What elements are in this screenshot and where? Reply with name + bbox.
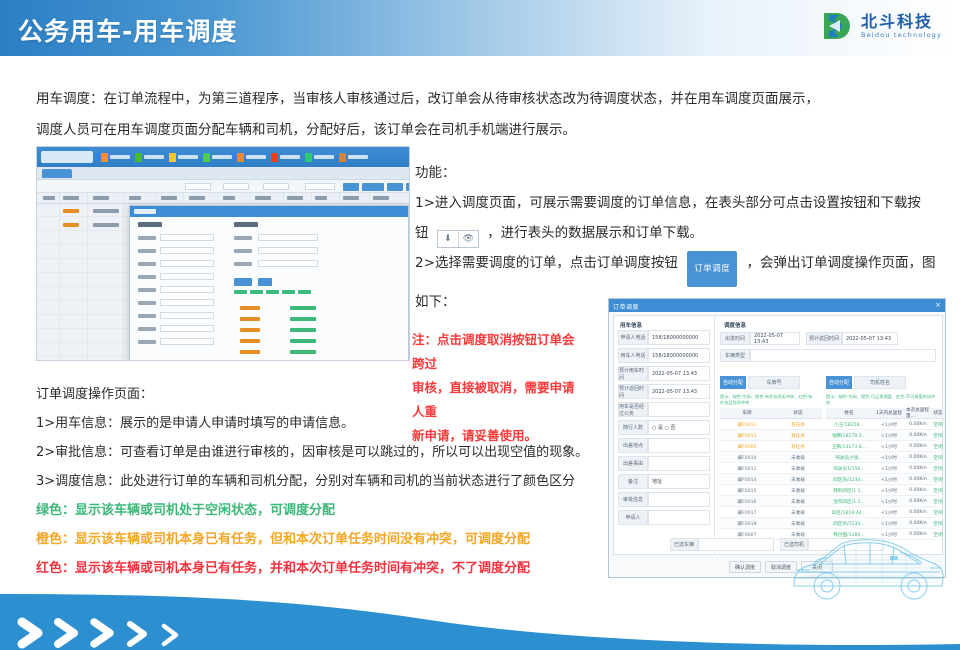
dispatch-cell: 未乘载 [774,496,822,507]
dispatch-cell: 空闲 [930,463,946,474]
intro-paragraph: 用车调度：在订单流程中，为第三道程序，当审核人审核通过后，改订单会从待审核状态改… [36,84,926,146]
dispatch-cell: 0.00Km [906,496,930,507]
functions-section: 功能： 1>进入调度页面，可展示需要调度的订单信息，在表头部分可点击设置按钮和下… [415,158,940,317]
modal-footer-button-0[interactable]: 确认调度 [729,561,761,573]
modal-field-label [138,340,156,344]
dispatch-cell: 小王/18358... [826,419,872,430]
modal-field-input[interactable] [160,260,214,267]
dispatch-cell: 冀F0014 [720,474,774,485]
dispatch-tab-0[interactable]: 自动分配 [720,376,746,389]
modal-row-drv [290,317,316,321]
modal-field-label [138,249,156,253]
nav-chip-7[interactable] [337,151,370,163]
dispatch-label-2: 车辆类型 [720,349,750,362]
legend-green-text: 显示该车辆或司机处于空闲状态，可调度分配 [75,503,335,518]
legend-red-label: 红色： [36,561,75,576]
order-dispatch-button[interactable]: 订单调度 [687,251,737,287]
modal-value-4[interactable] [648,402,710,417]
modal-field-input[interactable] [160,299,214,306]
dispatch-cell: 冀F0005 [720,441,774,452]
modal-label-9: 审批信息 [618,492,648,507]
dispatch-cell: <1小时 [872,507,906,518]
filter-button-0[interactable] [343,183,359,191]
dispatch-label-0: 出发时间 [720,332,750,345]
function-item-1-cont: 钮 ⬇ 👁 ，进行表头的数据展示和订单下载。 [415,218,940,248]
ops-item-3: 3>调度信息：此处进行订单的车辆和司机分配，分别对车辆和司机的当前状态进行了颜色… [36,467,596,496]
table-col-header-9 [315,196,327,200]
modal-value-0[interactable]: 158/18000000000 [648,330,710,345]
modal-label-3: 预计返回时间 [618,384,648,399]
modal-field-label [138,262,156,266]
dispatch-cell: 0.00Km [906,463,930,474]
dispatch-cell: 未乘载 [774,452,822,463]
dispatch-cell: 空闲 [930,507,946,518]
dispatch-label-1: 预计返回时间 [806,332,842,345]
legend-green-label: 绿色： [36,503,75,518]
table-col-header-2 [93,196,109,200]
modal-body: 用车信息 调度信息 申请人电话158/18000000000用车人电话158/1… [613,315,943,555]
nav-chip-2[interactable] [167,151,200,163]
filter-input-1[interactable] [223,183,249,190]
legend-red-text: 显示该车辆或司机本身已有任务，并和本次订单任务时间有冲突，不了调度分配 [75,561,530,576]
functions-heading: 功能： [415,158,940,188]
embedded-modal-titlebar [130,206,408,217]
modal-label-8: 备注 [618,474,648,489]
nav-chip-6[interactable] [303,151,336,163]
modal-legend-chip [250,290,263,294]
modal-right-label [234,236,252,240]
filter-input-3[interactable] [305,183,335,190]
modal-row-veh [240,317,260,321]
modal-field-input[interactable] [160,273,214,280]
modal-label-10: 申请人 [618,510,648,525]
nav-chip-0[interactable] [99,151,132,163]
modal-legend-chip [282,290,295,294]
dispatch-cell: 治市四区/1 1... [826,496,872,507]
modal-legend-chip [234,290,247,294]
legend-green: 绿色：显示该车辆或司机处于空闲状态，可调度分配 [36,496,596,525]
dispatch-cell: 0.00Km [906,441,930,452]
nav-chip-4[interactable] [235,151,268,163]
dispatch-cell: 冀F0013 [720,430,774,441]
modal-value-7[interactable] [648,456,710,471]
legend-driver: 提示：绿色-空闲、橙色-可正常调度、红色-不可调度时间冲突 [826,394,936,406]
modal-field-input[interactable] [160,338,214,345]
legend-orange: 橙色：显示该车辆或司机本身已有任务，但和本次订单任务时间没有冲突，可调度分配 [36,525,596,554]
function-item-2-text-a: 2>选择需要调度的订单，点击订单调度按钮 [415,255,678,271]
modal-field-label [138,275,156,279]
legend-orange-text: 显示该车辆或司机本身已有任务，但和本次订单任务时间没有冲突，可调度分配 [75,532,530,547]
nav-chip-3[interactable] [201,151,234,163]
dispatch-cell: 未乘载 [774,507,822,518]
modal-right-input[interactable] [258,234,318,241]
dispatch-cell: 0.00Km [906,507,930,518]
modal-value-5[interactable]: ○ 是 ○ 否 [648,420,710,435]
nav-chip-1[interactable] [133,151,166,163]
logo-text-en: Beidou technology [861,31,942,39]
veh-col-header-0: 车牌 [720,408,774,419]
modal-tab-button-1[interactable] [258,278,272,286]
modal-field-input[interactable] [160,286,214,293]
dispatch-cell: 冀F0011 [720,463,774,474]
filter-button-3[interactable] [406,183,410,191]
modal-row-drv [290,306,316,310]
modal-title: 订单调度 [613,302,639,311]
header-tool-buttons: ⬇ 👁 [437,230,479,248]
function-item-1: 1>进入调度页面，可展示需要调度的订单信息，在表头部分可点击设置按钮和下载按 [415,188,940,218]
panel-title-left [138,222,162,227]
download-icon[interactable]: ⬇ [438,231,458,247]
brand-logo: 北斗科技 Beidou technology [820,9,942,43]
modal-titlebar: 订单调度 × [609,299,945,312]
modal-field-label [138,236,156,240]
table-col-header-1 [63,196,79,200]
dispatch-cell: 空闲 [930,485,946,496]
table-col-header-11 [373,196,389,200]
dispatch-cell: 冀F0015 [720,485,774,496]
nav-chip-5[interactable] [269,151,302,163]
modal-row-drv [290,350,316,354]
modal-value-6[interactable] [648,438,710,453]
dispatch-cell: 冀F0017 [720,507,774,518]
modal-value-8[interactable]: 地址 [648,474,710,489]
filter-input-0[interactable] [185,183,211,190]
operations-section: 订单调度操作页面： 1>用车信息：展示的是申请人申请时填写的申请信息。 2>审批… [36,380,596,583]
table-cell [93,223,119,227]
dispatch-cell: 王鹏/13173 8... [826,441,872,452]
footer-decoration [0,594,960,650]
dispatch-cell: 冀F0019 [720,518,774,529]
dispatch-cell: 冀F0012 [720,419,774,430]
dispatch-value-0[interactable]: 2022-05-07 13:43 [750,332,800,345]
dispatch-cell: 空闲 [930,441,946,452]
page-title: 公务用车-用车调度 [18,12,237,48]
modal-field-label [138,327,156,331]
dispatch-cell: <1小时 [872,485,906,496]
modal-label-0: 申请人电话 [618,330,648,345]
modal-field-input[interactable] [160,312,214,319]
veh-col-header-1: 状态 [774,408,822,419]
dispatch-cell: <1小时 [872,496,906,507]
dispatch-cell: 空闲 [930,496,946,507]
table-col-header-5 [189,196,205,200]
selected-label-0: 已选车辆 [670,538,698,551]
dispatch-tab-3[interactable]: 司机姓名 [854,376,906,389]
dispatch-cell: <1小时 [872,463,906,474]
modal-field-label [138,288,156,292]
function-item-1-text-b: 钮 [415,225,429,241]
dispatch-cell: 0.00Km [906,430,930,441]
dispatch-cell: 未乘载 [774,485,822,496]
page-header: 公务用车-用车调度 北斗科技 Beidou technology [0,0,960,56]
modal-label-2: 预计用车时间 [618,366,648,381]
modal-label-4: 用车是否经过公务 [618,402,648,417]
dispatch-value-1[interactable]: 2022-05-07 13:43 [842,332,898,345]
legend-orange-label: 橙色： [36,532,75,547]
table-col-header-3 [129,196,141,200]
dispatch-tab-2[interactable]: 自动分配 [826,376,852,389]
modal-label-6: 出差地点 [618,438,648,453]
app-active-tab [42,169,72,178]
modal-value-2[interactable]: 2022-05-07 13:43 [648,366,710,381]
beidou-logo-icon [820,9,854,43]
dispatch-cell: <1小时 [872,430,906,441]
modal-field-input[interactable] [160,325,214,332]
modal-right-label [234,262,252,266]
intro-line-1: 用车调度：在订单流程中，为第三道程序，当审核人审核通过后，改订单会从待审核状态改… [36,84,926,115]
table-col-header-8 [287,196,303,200]
modal-label-1: 用车人电话 [618,348,648,363]
modal-value-1[interactable]: 158/18000000000 [648,348,710,363]
drv-col-header-2: 本次总里程量... [906,408,930,419]
table-cell [93,209,119,213]
dispatch-cell: 未乘载 [774,463,822,474]
dispatch-cell: 张腾/18170 2... [826,430,872,441]
table-cell [63,209,79,213]
modal-right-input[interactable] [258,260,318,267]
dispatch-cell: 有任务 [774,419,822,430]
dispatch-cell: 空闲 [930,474,946,485]
function-item-2-text-b: ，会弹出订单调度操作页面，图 [747,255,936,271]
modal-legend-chip [298,290,311,294]
dispatch-tab-1[interactable]: 车牌号 [748,376,800,389]
logo-text-cn: 北斗科技 [861,13,942,31]
modal-value-10[interactable] [648,510,710,525]
selected-value-0[interactable] [698,538,774,551]
filter-button-2[interactable] [387,183,403,191]
dispatch-cell: 驾驶员1/156... [826,463,872,474]
table-col-divider [87,193,88,361]
app-sub-bar [37,167,409,180]
modal-right-label [234,249,252,253]
function-item-2: 2>选择需要调度的订单，点击订单调度按钮 订单调度 ，会弹出订单调度操作页面，图 [415,248,940,287]
modal-tab-button-0[interactable] [234,278,252,286]
dispatch-cell: 有任务 [774,441,822,452]
app-logo [41,151,93,163]
modal-row-drv [290,328,316,332]
dispatch-cell: 空闲 [930,452,946,463]
filter-input-2[interactable] [263,183,289,190]
ops-item-1: 1>用车信息：展示的是申请人申请时填写的申请信息。 [36,409,596,438]
legend-red: 红色：显示该车辆或司机本身已有任务，并和本次订单任务时间有冲突，不了调度分配 [36,554,596,583]
dispatch-cell: 0.00Km [906,452,930,463]
eye-icon[interactable]: 👁 [458,231,478,247]
panel-title-right [234,222,258,227]
dispatch-cell: <1小时 [872,474,906,485]
drv-col-header-0: 姓名 [826,408,872,419]
drv-col-header-1: 1天内总里程 [872,408,906,419]
dispatch-value-2[interactable] [750,349,936,362]
table-col-header-0 [43,196,55,200]
dispatch-cell: <1小时 [872,452,906,463]
legend-vehicle: 提示：绿色-空闲、橙色-有任务但无冲突、红色-有任务且时间冲突 [720,394,816,406]
section-title-vehicle-info: 用车信息 [620,321,642,329]
table-col-divider [59,193,60,361]
modal-label-7: 出差事由 [618,456,648,471]
filter-button-1[interactable] [362,183,384,191]
intro-line-2: 调度人员可在用车调度页面分配车辆和司机，分配好后，该订单会在司机手机端进行展示。 [36,115,926,146]
table-col-header-6 [223,196,235,200]
drv-col-header-3: 状态 [930,408,946,419]
table-col-header-4 [161,196,177,200]
modal-legend-chip [266,290,279,294]
dispatch-cell: 四区的/1234... [826,474,872,485]
modal-row-veh [240,328,260,332]
table-col-header-10 [343,196,359,200]
modal-field-input[interactable] [160,234,214,241]
dispatch-cell: 冀F0016 [720,496,774,507]
table-cell [63,223,79,227]
dispatch-cell: <1小时 [872,419,906,430]
modal-value-3[interactable]: 2022-05-07 13:43 [648,384,710,399]
table-col-header-7 [255,196,271,200]
dispatch-cell: 0.00Km [906,474,930,485]
modal-row-veh [240,306,260,310]
ops-heading: 订单调度操作页面： [36,380,596,409]
dispatch-cell: 空闲 [930,419,946,430]
modal-label-5: 随行人数 [618,420,648,435]
panel-divider [714,316,715,554]
modal-row-veh [240,339,260,343]
screenshot-dispatch-list [36,146,410,361]
dispatch-cell: 有任务 [774,430,822,441]
section-title-dispatch-info: 调度信息 [724,321,746,329]
dispatch-cell: 韩利四区/1 1... [826,485,872,496]
embedded-modal [129,205,409,361]
close-icon[interactable]: × [935,301,941,309]
dispatch-cell: <1小时 [872,441,906,452]
modal-row-drv [290,339,316,343]
dispatch-cell: 四区/1819 44... [826,507,872,518]
warning-line-1: 注：点击调度取消按钮订单会跨过 [412,328,578,376]
function-item-1-text-a: 1>进入调度页面，可展示需要调度的订单信息，在表头部分可点击设置按钮和下载按 [415,195,921,211]
dispatch-cell: 未乘载 [774,474,822,485]
dispatch-cell: 0.00Km [906,485,930,496]
dispatch-cell: 空闲 [930,430,946,441]
dispatch-cell: 0.00Km [906,419,930,430]
modal-field-label [138,301,156,305]
modal-field-input[interactable] [160,247,214,254]
modal-right-input[interactable] [258,247,318,254]
modal-value-9[interactable] [648,492,710,507]
modal-row-veh [240,350,260,354]
dispatch-cell: 驾驶员小张... [826,452,872,463]
ops-item-2: 2>审批信息：可查看订单是由谁进行审核的，因审核是可以跳过的，所以可以出现空值的… [36,438,596,467]
modal-field-label [138,314,156,318]
table-col-divider [123,193,124,361]
function-item-1-text-c: ，进行表头的数据展示和订单下载。 [487,225,703,241]
dispatch-cell: 冀F0010 [720,452,774,463]
